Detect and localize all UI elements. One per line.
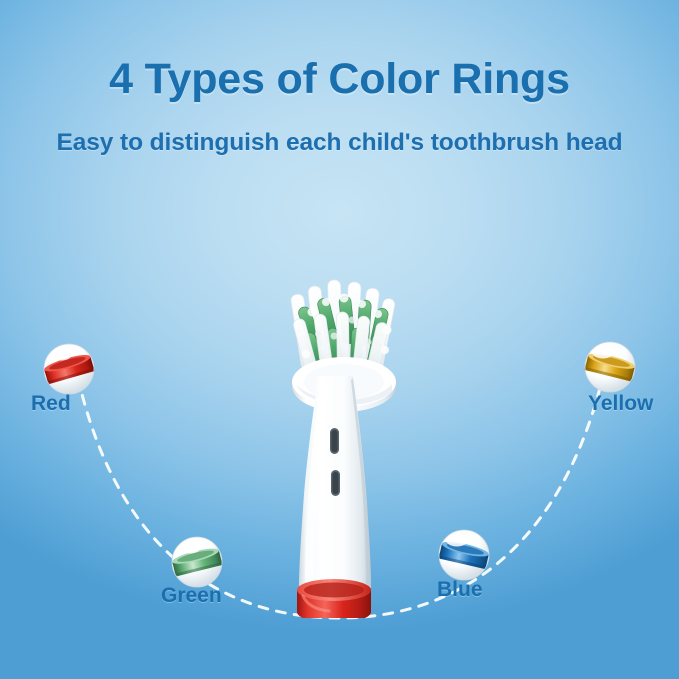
installed-color-ring-red — [297, 579, 371, 618]
color-ring-red-icon — [42, 342, 96, 396]
ring-label-yellow: Yellow — [588, 392, 653, 416]
ring-label-red: Red — [31, 392, 71, 416]
ring-label-blue: Blue — [437, 578, 483, 602]
toothbrush-head-image — [252, 258, 427, 618]
color-ring-yellow-icon — [583, 340, 637, 394]
marketing-image: 4 Types of Color Rings Easy to distingui… — [0, 0, 679, 679]
color-ring-green-icon — [170, 535, 224, 589]
ring-label-green: Green — [161, 584, 222, 608]
color-ring-blue-icon — [437, 528, 491, 582]
